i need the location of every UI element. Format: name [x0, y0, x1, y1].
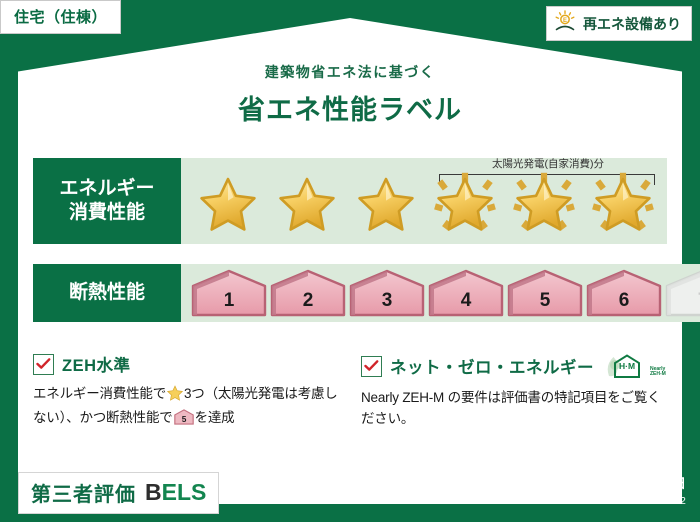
- insulation-grade-number: 5: [507, 290, 583, 312]
- insulation-grade-number: 1: [191, 290, 267, 312]
- insulation-grade-on: 3: [349, 269, 425, 317]
- zeh-standard-title: ZEH水準: [62, 352, 131, 376]
- insulation-grade-on: 1: [191, 269, 267, 317]
- checkbox-checked-icon: [33, 354, 54, 375]
- net-zero-energy-section: ネット・ゼロ・エネルギー H·M Nearly ZEH-M Nearly ZEH…: [361, 352, 671, 432]
- renewable-badge-label: 再エネ設備あり: [583, 14, 681, 34]
- insulation-grade-number: 3: [349, 290, 425, 312]
- page-title: 省エネ性能ラベル: [0, 88, 700, 127]
- evaluation-date-label: 評価日: [556, 476, 597, 491]
- star-solar: [505, 167, 582, 241]
- insulation-row-body: 1234567: [181, 264, 700, 322]
- insulation-grade-off: 7: [665, 269, 700, 317]
- zeh-m-house-icon: H·M Nearly ZEH-M: [606, 352, 666, 380]
- svg-text:E: E: [563, 18, 567, 24]
- svg-text:5: 5: [181, 414, 186, 424]
- title-subtitle: 建築物省エネ法に基づく: [0, 62, 700, 82]
- dwelling-type-tag: 住宅（住棟）: [0, 0, 121, 34]
- zeh-standard-body: エネルギー消費性能で3つ（太陽光発電は考慮しない）、かつ断熱性能で5を達成: [33, 384, 343, 432]
- energy-row-body: 太陽光発電(自家消費)分: [181, 158, 667, 244]
- bels-logo-b: B: [145, 479, 162, 505]
- star-base: [268, 167, 345, 241]
- star-base: [347, 167, 424, 241]
- bels-energy-label: 住宅（住棟） E 再エネ設備あり 建築物省エネ法に基づく 省エネ性能ラベル: [0, 0, 700, 522]
- insulation-grade-on: 2: [270, 269, 346, 317]
- project-name: D-residence大島町: [235, 484, 357, 504]
- net-zero-header: ネット・ゼロ・エネルギー H·M Nearly ZEH-M: [361, 352, 671, 380]
- energy-row-label: エネルギー 消費性能: [33, 158, 181, 244]
- zeh-standard-header: ZEH水準: [33, 352, 343, 376]
- star-solar: [584, 167, 661, 241]
- bels-certification-mark: 第三者評価 BELS: [18, 472, 219, 514]
- evaluation-info: 評価日 2025年9月4日 e696a12d-7cd1-48b2: [556, 472, 686, 507]
- bels-logo-els: ELS: [162, 479, 207, 505]
- evaluation-date: 評価日 2025年9月4日: [556, 472, 686, 492]
- evaluation-date-value: 2025年9月4日: [600, 476, 686, 491]
- zeh-standard-section: ZEH水準 エネルギー消費性能で3つ（太陽光発電は考慮しない）、かつ断熱性能で5…: [33, 352, 343, 432]
- gold-star-icon: [167, 385, 183, 408]
- zehm-logo-sub2: ZEH-M: [650, 372, 666, 377]
- title-block: 建築物省エネ法に基づく 省エネ性能ラベル: [0, 62, 700, 127]
- evaluation-id: e696a12d-7cd1-48b2: [556, 496, 686, 507]
- zeh-body-part1: エネルギー消費性能で: [33, 386, 166, 401]
- net-zero-body: Nearly ZEH-M の要件は評価書の特記項目をご覧ください。: [361, 388, 671, 430]
- net-zero-title: ネット・ゼロ・エネルギー: [390, 354, 594, 378]
- solar-sun-icon: E: [553, 10, 577, 37]
- energy-label-line2: 消費性能: [69, 201, 145, 225]
- star-base: [189, 167, 266, 241]
- star-solar: [426, 167, 503, 241]
- insulation-grade-number: 6: [586, 290, 662, 312]
- insulation-grade-number: 7: [665, 290, 700, 312]
- insulation-row-label: 断熱性能: [33, 264, 181, 322]
- bels-logo: BELS: [145, 479, 206, 506]
- insulation-performance-row: 断熱性能 1234567: [33, 264, 667, 322]
- insulation-grade-number: 4: [428, 290, 504, 312]
- insulation-grade-on: 4: [428, 269, 504, 317]
- energy-label-line1: エネルギー: [59, 177, 154, 201]
- insulation-grade-number: 2: [270, 290, 346, 312]
- energy-star-rating: [181, 167, 661, 241]
- insulation-grade-scale: 1234567: [181, 269, 700, 317]
- checkbox-checked-icon: [361, 356, 382, 377]
- third-party-eval-label: 第三者評価: [31, 478, 136, 507]
- renewable-equipment-badge: E 再エネ設備あり: [546, 6, 692, 41]
- zeh-body-part3: を達成: [195, 410, 235, 425]
- svg-text:H·M: H·M: [619, 361, 635, 371]
- insulation-grade-on: 6: [586, 269, 662, 317]
- energy-performance-row: エネルギー 消費性能 太陽光発電(自家消費)分: [33, 158, 667, 244]
- house-grade-5-icon: 5: [174, 409, 194, 432]
- criteria-sections: ZEH水準 エネルギー消費性能で3つ（太陽光発電は考慮しない）、かつ断熱性能で5…: [33, 352, 673, 432]
- insulation-grade-on: 5: [507, 269, 583, 317]
- footer-bar: 第三者評価 BELS D-residence大島町 評価日 2025年9月4日 …: [0, 464, 700, 522]
